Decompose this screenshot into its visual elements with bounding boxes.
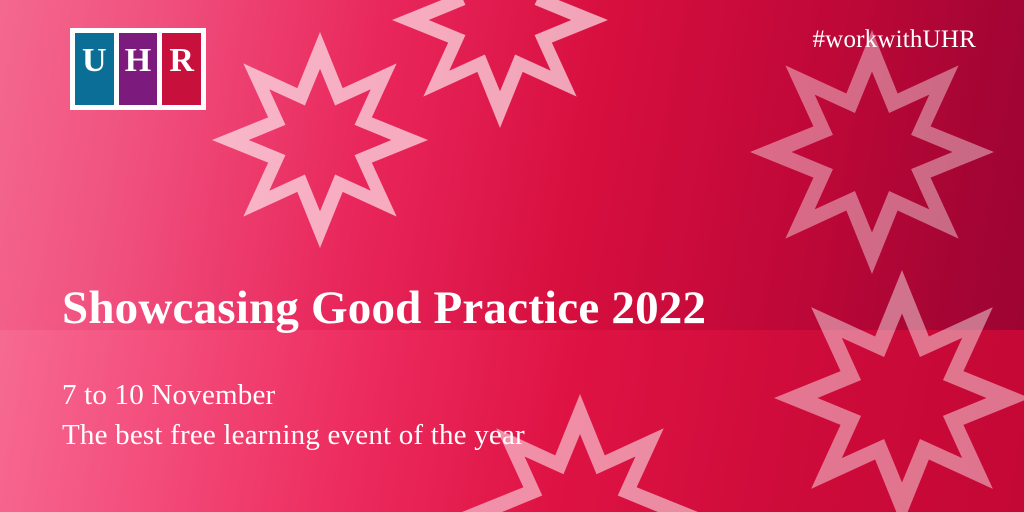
event-tagline: The best free learning event of the year	[62, 420, 525, 452]
logo-cell-u: U	[75, 33, 114, 105]
event-banner: U H R #workwithUHR Showcasing Good Pract…	[0, 0, 1024, 512]
logo-letter-r: R	[169, 44, 194, 78]
logo-letter-h: H	[125, 44, 151, 78]
star-top-right	[750, 30, 994, 274]
uhr-logo: U H R	[70, 28, 206, 110]
page-title: Showcasing Good Practice 2022	[62, 284, 706, 333]
event-dates: 7 to 10 November	[62, 380, 275, 412]
logo-letter-u: U	[82, 44, 107, 78]
logo-cell-r: R	[162, 33, 201, 105]
hashtag-text: #workwithUHR	[812, 26, 976, 54]
star-top-center	[392, 0, 608, 128]
logo-cell-h: H	[119, 33, 158, 105]
star-top-left	[212, 32, 428, 248]
